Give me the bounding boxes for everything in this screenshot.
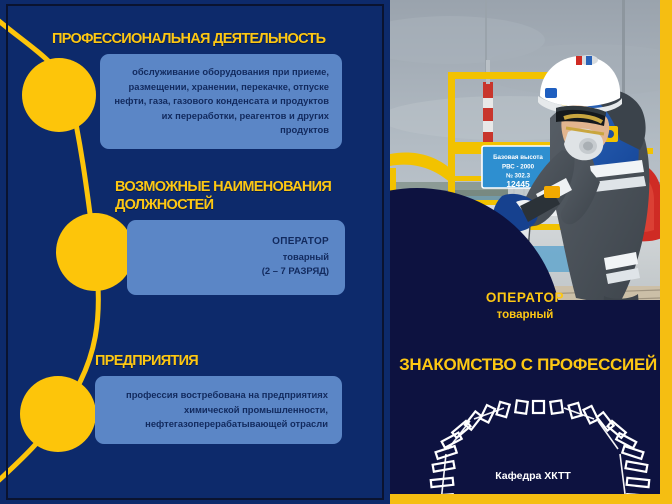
job-title-block: ОПЕРАТОР товарный (390, 290, 660, 321)
section-employers: ПРЕДПРИЯТИЯ профессия востребована на пр… (95, 352, 342, 444)
poster-root: ПРОФЕССИОНАЛЬНАЯ ДЕЯТЕЛЬНОСТЬ обслуживан… (0, 0, 672, 504)
section-2-body-box: ОПЕРАТОР товарный (2 – 7 РАЗРЯД) (127, 220, 345, 295)
decorative-circle-3 (20, 376, 96, 452)
section-possible-job-titles: ВОЗМОЖНЫЕ НАИМЕНОВАНИЯ ДОЛЖНОСТЕЙ ОПЕРАТ… (115, 178, 345, 295)
right-bottom-yellow-bar (390, 494, 672, 504)
job-title-rank-sub: товарный (143, 250, 329, 265)
svg-text:Базовая высота: Базовая высота (493, 154, 543, 161)
decorative-fan-arc (408, 399, 658, 504)
section-3-body-box: профессия востребована на предприятиях х… (95, 376, 342, 444)
job-title-sub: товарный (390, 309, 660, 321)
left-panel: ПРОФЕССИОНАЛЬНАЯ ДЕЯТЕЛЬНОСТЬ обслуживан… (0, 0, 390, 504)
job-title-grade: (2 – 7 РАЗРЯД) (143, 264, 329, 279)
section-1-heading: ПРОФЕССИОНАЛЬНАЯ ДЕЯТЕЛЬНОСТЬ (52, 30, 342, 48)
department-label: Кафедра ХКТТ (408, 470, 658, 482)
job-title-rank-main: ОПЕРАТОР (143, 234, 329, 250)
svg-text:РВС - 2000: РВС - 2000 (502, 164, 535, 171)
right-panel: Базовая высота РВС - 2000 № 302.3 12445 (390, 0, 672, 504)
poster-headline: ЗНАКОМСТВО С ПРОФЕССИЕЙ (390, 355, 666, 375)
section-3-heading: ПРЕДПРИЯТИЯ (95, 352, 342, 370)
section-1-body-box: обслуживание оборудования при приеме, ра… (100, 54, 342, 149)
right-yellow-edge-bar (660, 0, 672, 504)
section-professional-activity: ПРОФЕССИОНАЛЬНАЯ ДЕЯТЕЛЬНОСТЬ обслуживан… (52, 30, 342, 149)
section-2-heading: ВОЗМОЖНЫЕ НАИМЕНОВАНИЯ ДОЛЖНОСТЕЙ (115, 178, 345, 214)
svg-text:12445: 12445 (506, 179, 530, 189)
job-title-main: ОПЕРАТОР (390, 290, 660, 305)
